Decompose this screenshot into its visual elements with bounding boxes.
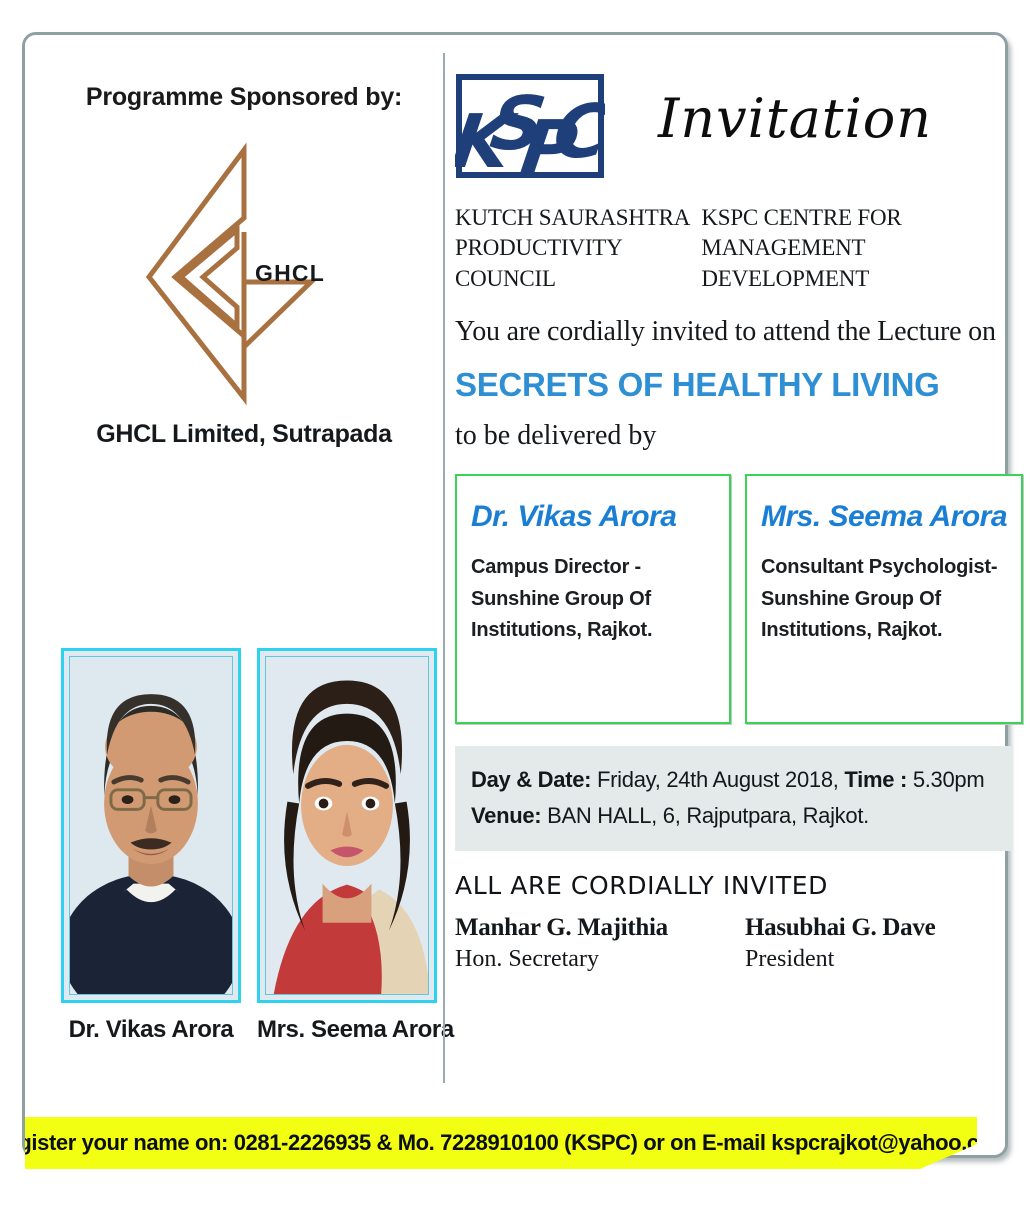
signatory-president: Hasubhai G. Dave President bbox=[745, 914, 935, 973]
speaker-role: Consultant Psychologist- Sunshine Group … bbox=[761, 552, 1007, 647]
registration-footer: Register your name on: 0281-2226935 & Mo… bbox=[25, 1117, 977, 1169]
speaker-role-line3: Institutions, Rajkot. bbox=[471, 615, 715, 647]
portrait-woman-icon bbox=[266, 657, 428, 994]
time-value: 5.30pm bbox=[913, 767, 985, 792]
ghcl-wordmark: GHCL bbox=[255, 260, 325, 287]
speaker-photos: Dr. Vikas Arora bbox=[61, 648, 437, 1044]
organisation-names: KUTCH SAURASHTRA PRODUCTIVITY COUNCIL KS… bbox=[433, 203, 1023, 294]
speaker-role-line2: Sunshine Group Of bbox=[761, 584, 1007, 616]
speaker-role-line3: Institutions, Rajkot. bbox=[761, 615, 1007, 647]
speaker-box-vikas: Dr. Vikas Arora Campus Director - Sunshi… bbox=[455, 474, 731, 724]
signatory-title: President bbox=[745, 946, 935, 973]
venue-label: Venue: bbox=[471, 803, 541, 828]
invitation-card: Programme Sponsored by: GHCL GHCL Limite… bbox=[22, 32, 1008, 1158]
photo-caption: Dr. Vikas Arora bbox=[61, 1016, 241, 1044]
photo-image-seema bbox=[265, 656, 429, 995]
lecture-title: SECRETS OF HEALTHY LIVING bbox=[433, 366, 1023, 404]
photo-image-vikas bbox=[69, 656, 233, 995]
portrait-man-icon bbox=[70, 657, 232, 994]
speaker-role-line2: Sunshine Group Of bbox=[471, 584, 715, 616]
event-venue-line: Venue: BAN HALL, 6, Rajputpara, Rajkot. bbox=[471, 798, 997, 834]
photo-card-seema: Mrs. Seema Arora bbox=[257, 648, 437, 1044]
photo-frame bbox=[61, 648, 241, 1003]
sponsor-section: Programme Sponsored by: GHCL GHCL Limite… bbox=[55, 83, 433, 449]
registration-text: Register your name on: 0281-2226935 & Mo… bbox=[0, 1130, 1011, 1156]
org-left-line1: KUTCH SAURASHTRA bbox=[455, 203, 701, 233]
org-left: KUTCH SAURASHTRA PRODUCTIVITY COUNCIL bbox=[455, 203, 701, 294]
speaker-box-seema: Mrs. Seema Arora Consultant Psychologist… bbox=[745, 474, 1023, 724]
org-right-line1: KSPC CENTRE FOR bbox=[701, 203, 1023, 233]
header-row: K S P C Invitation bbox=[433, 49, 1023, 189]
sponsor-heading: Programme Sponsored by: bbox=[55, 83, 433, 112]
speaker-name: Dr. Vikas Arora bbox=[471, 500, 715, 534]
speaker-role-line1: Campus Director - bbox=[471, 552, 715, 584]
org-left-line2: PRODUCTIVITY COUNCIL bbox=[455, 233, 701, 294]
invitation-title: Invitation bbox=[658, 87, 932, 150]
signatory-name: Manhar G. Majithia bbox=[455, 914, 745, 942]
event-date-line: Day & Date: Friday, 24th August 2018, Ti… bbox=[471, 762, 997, 798]
day-date-value: Friday, 24th August 2018, bbox=[597, 767, 839, 792]
main-content: K S P C Invitation KUTCH SAURASHTRA PROD… bbox=[433, 49, 1023, 973]
speaker-role-line1: Consultant Psychologist- bbox=[761, 552, 1007, 584]
sponsor-name: GHCL Limited, Sutrapada bbox=[55, 420, 433, 449]
photo-card-vikas: Dr. Vikas Arora bbox=[61, 648, 241, 1044]
photo-caption: Mrs. Seema Arora bbox=[257, 1016, 437, 1044]
photo-frame bbox=[257, 648, 437, 1003]
speaker-boxes: Dr. Vikas Arora Campus Director - Sunshi… bbox=[433, 474, 1023, 724]
org-right: KSPC CENTRE FOR MANAGEMENT DEVELOPMENT bbox=[701, 203, 1023, 294]
ghcl-logo: GHCL bbox=[55, 140, 433, 410]
signatory-title: Hon. Secretary bbox=[455, 946, 745, 973]
signatures: Manhar G. Majithia Hon. Secretary Hasubh… bbox=[455, 914, 1023, 973]
speaker-role: Campus Director - Sunshine Group Of Inst… bbox=[471, 552, 715, 647]
delivered-by-line: to be delivered by bbox=[433, 420, 1023, 452]
cordial-invitation-line: You are cordially invited to attend the … bbox=[433, 316, 1023, 348]
speaker-name: Mrs. Seema Arora bbox=[761, 500, 1007, 534]
org-right-line2: MANAGEMENT DEVELOPMENT bbox=[701, 233, 1023, 294]
time-label: Time : bbox=[844, 767, 907, 792]
venue-value: BAN HALL, 6, Rajputpara, Rajkot. bbox=[547, 803, 869, 828]
signatory-name: Hasubhai G. Dave bbox=[745, 914, 935, 942]
event-details-box: Day & Date: Friday, 24th August 2018, Ti… bbox=[455, 746, 1013, 851]
signatory-secretary: Manhar G. Majithia Hon. Secretary bbox=[455, 914, 745, 973]
kspc-logo-icon: K S P C bbox=[455, 71, 605, 191]
day-date-label: Day & Date: bbox=[471, 767, 591, 792]
all-invited-line: ALL ARE CORDIALLY INVITED bbox=[455, 871, 1023, 900]
